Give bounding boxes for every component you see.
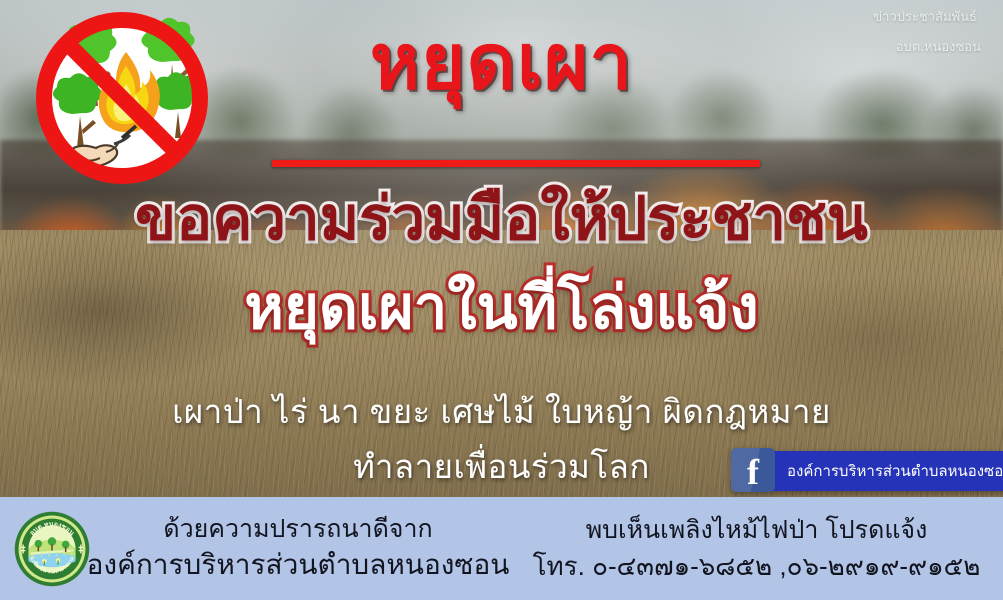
facebook-page-name[interactable]: องค์การบริหารส่วนตำบลหนองซอน [765, 451, 1003, 491]
footer-phone-line: โทร. ๐-๔๓๗๑-๖๘๕๒ ,๐๖-๒๙๑๙-๙๑๕๒ [533, 548, 981, 584]
poster-root: ข่าวประชาสัมพันธ์ อบต.หนองซอน หยุดเผา ขอ… [0, 0, 1003, 600]
facebook-icon[interactable]: f [731, 448, 775, 492]
footer-right-section: พบเห็นเพลิงไหม้ไฟป่า โปรดแจ้ง โทร. ๐-๔๓๗… [510, 497, 1003, 600]
main-message-line-2: หยุดเผาในที่โล่งแจ้ง [0, 273, 1003, 342]
footer-left-section: อบต.หนองซอน อ.เชียงยืน จ.มหาสารคาม ด้วยค… [0, 497, 510, 600]
page-title: หยุดเผา [0, 22, 1003, 104]
sub-message-line-1: เผาป่า ไร่ นา ขยะ เศษไม้ ใบหญ้า ผิดกฎหมา… [0, 385, 1003, 438]
footer-org-name: องค์การบริหารส่วนตำบลหนองซอน [86, 546, 510, 584]
footer-goodwill-line: ด้วยความปรารถนาดีจาก [86, 513, 510, 547]
facebook-icon-glyph: f [747, 454, 759, 490]
main-message-line-1: ขอความร่วมมือให้ประชาชน [0, 184, 1003, 253]
facebook-badge[interactable]: f องค์การบริหารส่วนตำบลหนองซอน [731, 451, 1003, 491]
organization-seal-logo: อบต.หนองซอน อ.เชียงยืน จ.มหาสารคาม [14, 511, 90, 587]
red-divider [272, 160, 760, 167]
footer-bar: อบต.หนองซอน อ.เชียงยืน จ.มหาสารคาม ด้วยค… [0, 497, 1003, 600]
footer-left-text: ด้วยความปรารถนาดีจาก องค์การบริหารส่วนตำ… [86, 513, 510, 585]
footer-report-line: พบเห็นเพลิงไหม้ไฟป่า โปรดแจ้ง [586, 513, 928, 548]
